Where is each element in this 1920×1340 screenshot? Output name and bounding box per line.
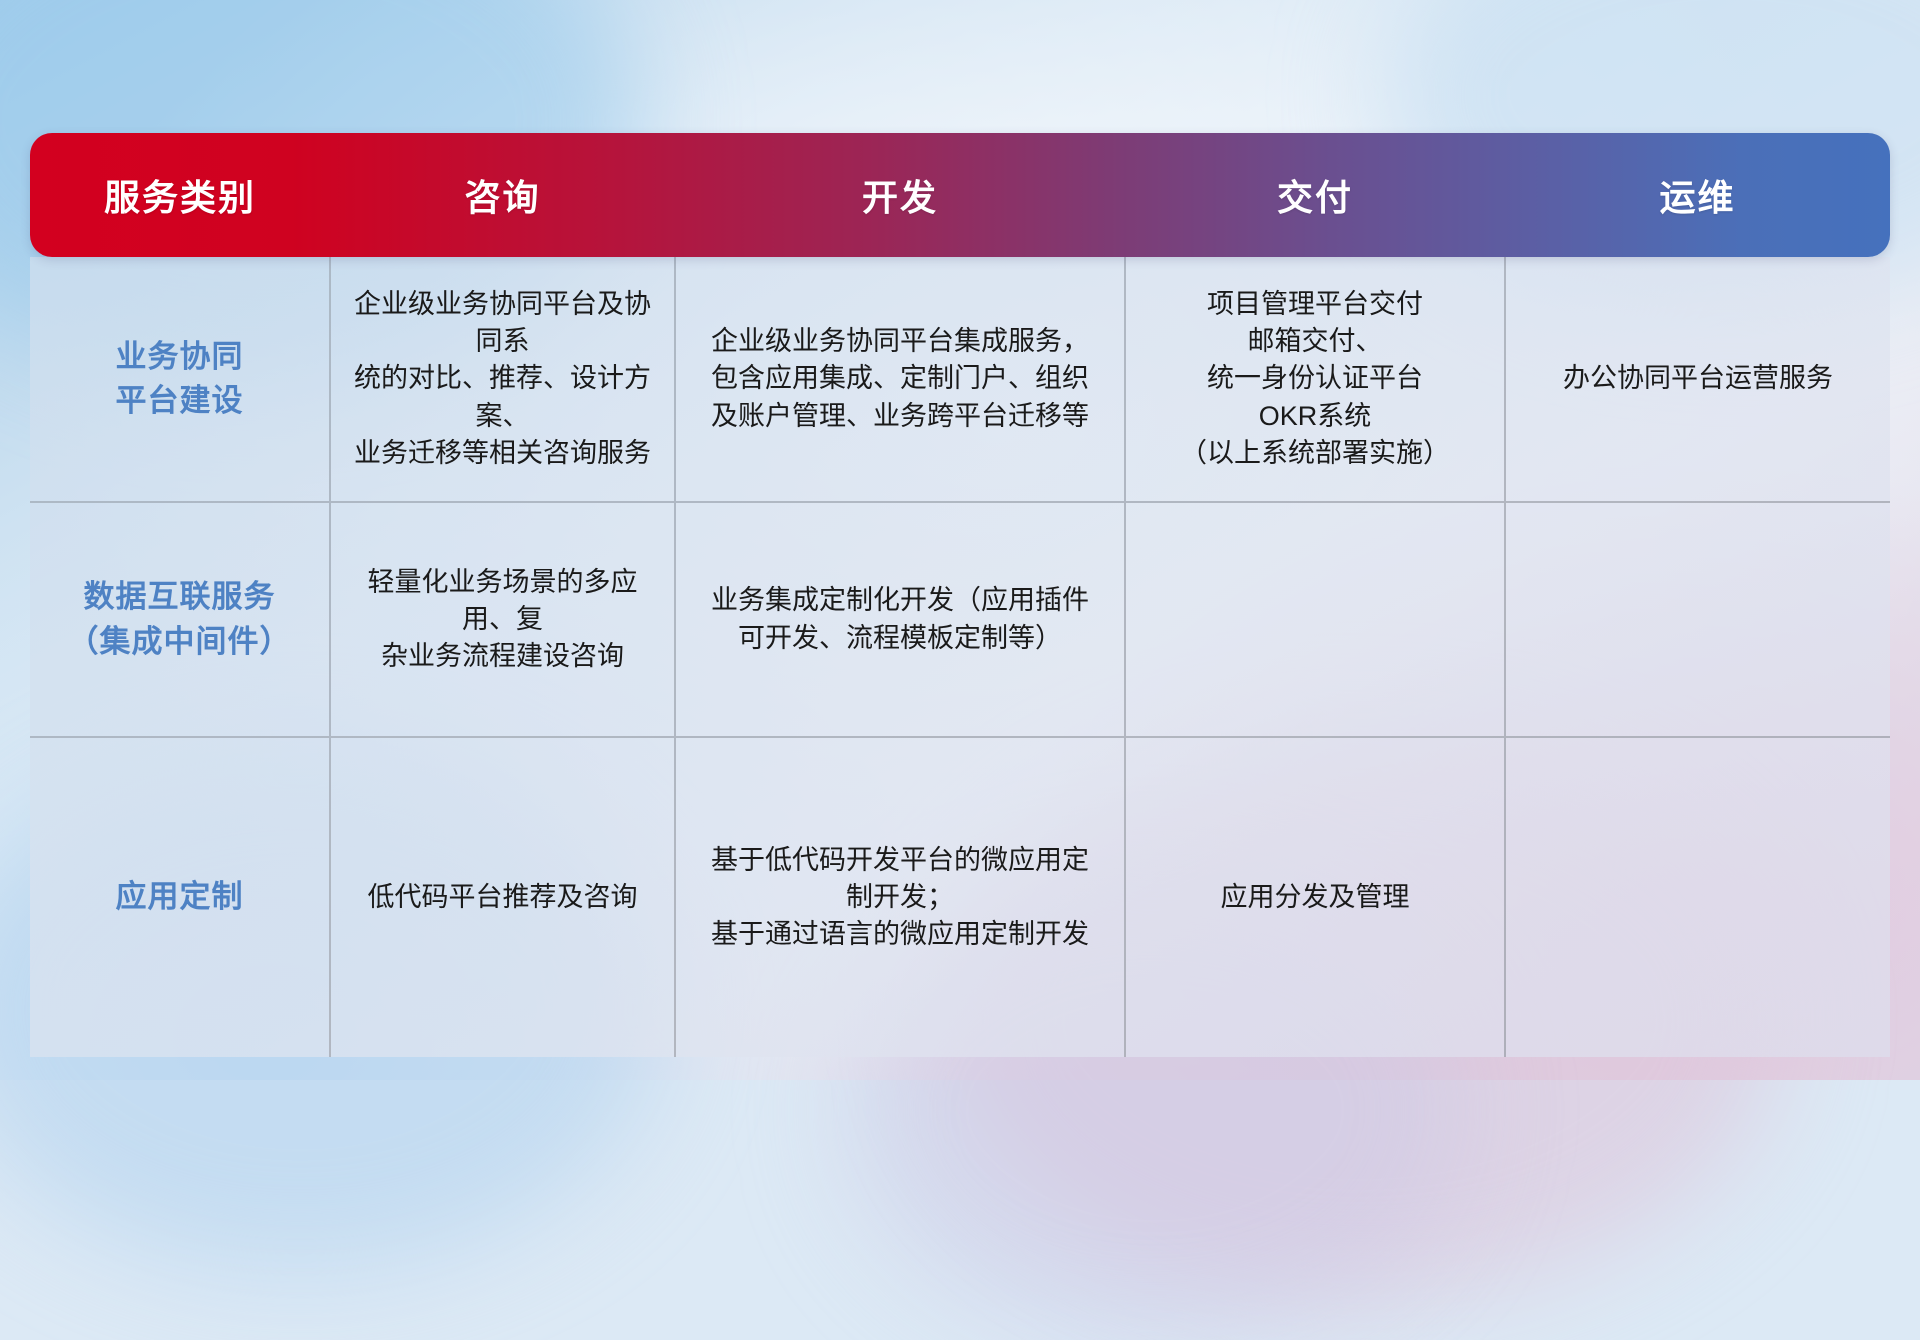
cell-line: （以上系统部署实施）	[1142, 435, 1488, 472]
cell-consulting[interactable]: 企业级业务协同平台及协同系统的对比、推荐、设计方案、业务迁移等相关咨询服务	[330, 257, 675, 502]
cell-line: 项目管理平台交付	[1142, 286, 1488, 323]
cell-line: 基于低代码开发平台的微应用定	[692, 842, 1108, 879]
cell-line: OKR系统	[1142, 398, 1488, 435]
cell-operations[interactable]: 办公协同平台运营服务	[1505, 257, 1890, 502]
cell-line: 应用定制	[46, 875, 313, 919]
cell-line: 企业级业务协同平台及协同系	[347, 286, 658, 361]
cell-line: 数据互联服务	[46, 575, 313, 619]
column-header-category[interactable]: 服务类别	[30, 133, 330, 257]
cell-development[interactable]: 业务集成定制化开发（应用插件可开发、流程模板定制等）	[675, 502, 1125, 737]
row-label-category[interactable]: 数据互联服务（集成中间件）	[30, 502, 330, 737]
service-matrix-table-wrapper: 服务类别咨询开发交付运维 业务协同平台建设企业级业务协同平台及协同系统的对比、推…	[30, 133, 1890, 1057]
slide-canvas: 服务类别咨询开发交付运维 业务协同平台建设企业级业务协同平台及协同系统的对比、推…	[0, 0, 1920, 1080]
column-header-delivery[interactable]: 交付	[1125, 133, 1505, 257]
cell-line: 平台建设	[46, 379, 313, 423]
cell-line: 包含应用集成、定制门户、组织	[692, 360, 1108, 397]
column-header-operations[interactable]: 运维	[1505, 133, 1890, 257]
cell-line: 统的对比、推荐、设计方案、	[347, 360, 658, 435]
cell-line: 制开发；	[692, 879, 1108, 916]
cell-line: 低代码平台推荐及咨询	[347, 879, 658, 916]
row-label-category[interactable]: 业务协同平台建设	[30, 257, 330, 502]
cell-line: 办公协同平台运营服务	[1522, 360, 1874, 397]
table-header-row-group: 服务类别咨询开发交付运维	[30, 133, 1890, 257]
table-header-row: 服务类别咨询开发交付运维	[30, 133, 1890, 257]
cell-line: （集成中间件）	[46, 620, 313, 664]
row-label-category[interactable]: 应用定制	[30, 737, 330, 1057]
cell-line: 基于通过语言的微应用定制开发	[692, 916, 1108, 953]
cell-line: 可开发、流程模板定制等）	[692, 620, 1108, 657]
cell-line: 业务协同	[46, 335, 313, 379]
cell-line: 轻量化业务场景的多应用、复	[347, 564, 658, 639]
cell-delivery	[1125, 502, 1505, 737]
cell-line: 业务迁移等相关咨询服务	[347, 435, 658, 472]
cell-operations	[1505, 737, 1890, 1057]
table-row: 应用定制低代码平台推荐及咨询基于低代码开发平台的微应用定制开发；基于通过语言的微…	[30, 737, 1890, 1057]
column-header-development[interactable]: 开发	[675, 133, 1125, 257]
cell-line: 杂业务流程建设咨询	[347, 638, 658, 675]
cell-line: 业务集成定制化开发（应用插件	[692, 582, 1108, 619]
table-row: 数据互联服务（集成中间件）轻量化业务场景的多应用、复杂业务流程建设咨询业务集成定…	[30, 502, 1890, 737]
cell-line: 邮箱交付、	[1142, 323, 1488, 360]
cell-development[interactable]: 基于低代码开发平台的微应用定制开发；基于通过语言的微应用定制开发	[675, 737, 1125, 1057]
cell-line: 企业级业务协同平台集成服务，	[692, 323, 1108, 360]
cell-operations	[1505, 502, 1890, 737]
cell-delivery[interactable]: 应用分发及管理	[1125, 737, 1505, 1057]
cell-line: 及账户管理、业务跨平台迁移等	[692, 398, 1108, 435]
column-header-consulting[interactable]: 咨询	[330, 133, 675, 257]
cell-line: 应用分发及管理	[1142, 879, 1488, 916]
service-matrix-table: 服务类别咨询开发交付运维 业务协同平台建设企业级业务协同平台及协同系统的对比、推…	[30, 133, 1890, 1057]
cell-consulting[interactable]: 轻量化业务场景的多应用、复杂业务流程建设咨询	[330, 502, 675, 737]
table-body: 业务协同平台建设企业级业务协同平台及协同系统的对比、推荐、设计方案、业务迁移等相…	[30, 257, 1890, 1057]
cell-delivery[interactable]: 项目管理平台交付邮箱交付、统一身份认证平台OKR系统（以上系统部署实施）	[1125, 257, 1505, 502]
cell-line: 统一身份认证平台	[1142, 360, 1488, 397]
cell-development[interactable]: 企业级业务协同平台集成服务，包含应用集成、定制门户、组织及账户管理、业务跨平台迁…	[675, 257, 1125, 502]
table-row: 业务协同平台建设企业级业务协同平台及协同系统的对比、推荐、设计方案、业务迁移等相…	[30, 257, 1890, 502]
cell-consulting[interactable]: 低代码平台推荐及咨询	[330, 737, 675, 1057]
